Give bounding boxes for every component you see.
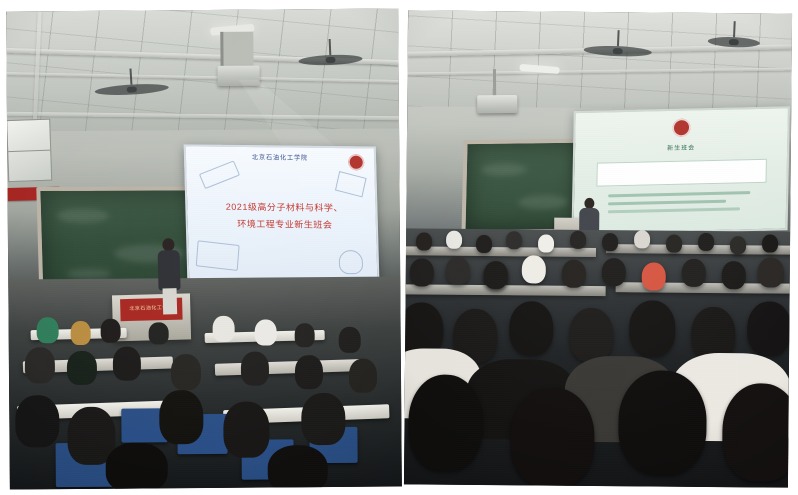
photo-right-content: 新生班会 [404,10,792,487]
student-silhouette [149,322,169,344]
audience-head [562,260,586,288]
pen-doodle-icon [199,160,240,189]
ceiling-projector-icon [477,95,517,113]
student-silhouette [255,319,277,345]
speaker-torso [158,250,181,291]
chalk-smudge [57,209,109,223]
audience-head-foreground [408,374,483,471]
slide-header-left: 北京石油化工学院 [186,146,375,166]
slide-title-line-2: 环境工程专业新生班会 [210,216,361,235]
speaker-legs [163,288,178,314]
desk-row [404,246,596,257]
student-silhouette [71,321,91,345]
audience-head [446,257,470,285]
audience-head [666,235,682,253]
slide-org-name: 北京石油化工学院 [252,151,308,162]
student-silhouette [171,354,201,390]
audience-head [747,301,790,355]
student-silhouette [113,346,141,380]
audience-head [730,236,746,254]
audience-head [602,233,618,251]
slide-title-right: 新生班会 [575,140,787,154]
audience-head [569,308,613,362]
slide-title-left: 2021级高分子材料与科学、 环境工程专业新生班会 [209,199,360,235]
chalk-smudge [518,195,568,210]
student-silhouette [15,395,59,447]
audience-head [476,235,492,253]
audience-head [682,259,706,287]
slide-content-box [596,159,767,187]
university-seal-icon [672,119,690,137]
audience-head [602,258,626,286]
audience-head [506,231,522,249]
audience-head [522,255,546,283]
audience-head [698,233,714,251]
window [6,119,52,182]
audience-head [762,234,778,252]
student-silhouette [67,351,97,385]
slide-text-line [608,207,740,213]
audience-head [538,234,554,252]
audience-head [634,230,650,248]
student-silhouette [349,359,377,393]
audience-head [410,258,434,286]
audience-head-foreground [510,387,595,487]
student-silhouette [268,445,328,489]
audience-head [446,231,462,249]
photo-right-audience-view[interactable]: 新生班会 [404,10,792,487]
audience-head [509,301,553,355]
student-silhouette [106,442,168,489]
speaker-person-left [155,238,183,315]
student-silhouette [301,393,345,445]
slide-text-line [608,200,726,206]
student-silhouette [101,319,121,343]
chalk-smudge [67,269,111,279]
student-silhouette [339,327,361,353]
student-silhouette [241,351,269,385]
audience-head-foreground [722,383,790,482]
audience-head [758,257,784,287]
audience-head [416,232,432,250]
lightbulb-doodle-icon [339,250,364,274]
student-silhouette [159,390,203,444]
student-silhouette [25,347,55,383]
student-silhouette [295,323,315,347]
student-silhouette [213,316,235,342]
audience-head [642,262,666,290]
ceiling-projector-icon [220,32,253,66]
university-seal-icon [348,154,364,170]
book-doodle-icon [196,240,240,271]
audience-head [629,300,675,356]
student-silhouette [37,317,59,343]
student-silhouette [295,355,323,389]
slide-text-line [608,191,750,197]
audience-seating-right [404,228,790,487]
chalk-smudge [481,163,527,176]
audience-head [722,261,746,289]
audience-head [484,261,508,289]
slide-title-line-1: 2021级高分子材料与科学、 [209,199,360,218]
photo-left-content: 北京石油化工学院 2021级高分子材料与科学、 环境工程专业新生班会 北京石油化… [6,8,402,489]
audience-head [570,231,586,249]
photo-collage: 北京石油化工学院 2021级高分子材料与科学、 环境工程专业新生班会 北京石油化… [0,0,798,495]
student-silhouette [223,401,269,457]
photo-left-classroom-wide[interactable]: 北京石油化工学院 2021级高分子材料与科学、 环境工程专业新生班会 北京石油化… [6,8,402,489]
graduation-cap-doodle-icon [335,171,367,197]
audience-head-foreground [618,370,707,475]
projection-screen-right: 新生班会 [571,106,790,235]
